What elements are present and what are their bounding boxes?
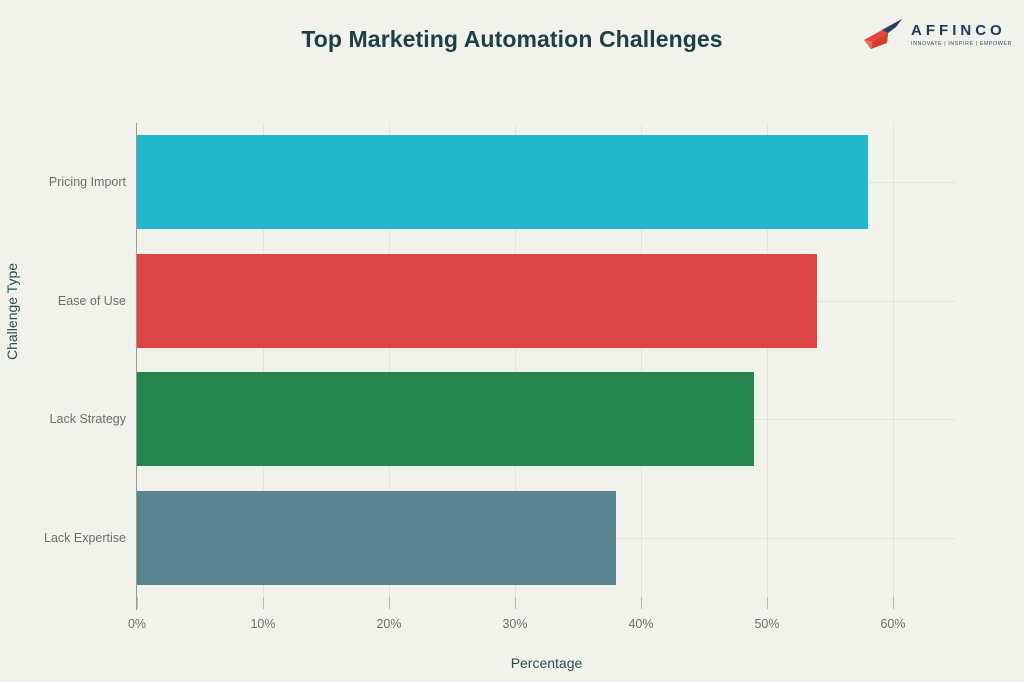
x-axis-tick-mark	[767, 597, 768, 609]
x-axis-tick-label: 60%	[880, 617, 905, 631]
y-axis-tick-labels: Pricing ImportEase of UseLack StrategyLa…	[0, 0, 137, 682]
plot-area	[137, 123, 956, 597]
x-axis-tick-label: 50%	[754, 617, 779, 631]
x-axis-tick-mark	[893, 597, 894, 609]
y-axis-tick-label: Pricing Import	[49, 175, 126, 189]
x-axis-tick-label: 10%	[250, 617, 275, 631]
x-axis-title: Percentage	[137, 655, 956, 671]
x-axis-tick-label: 40%	[628, 617, 653, 631]
x-axis-tick-mark	[263, 597, 264, 609]
bar-lack-strategy[interactable]	[137, 372, 754, 466]
bar-ease-of-use[interactable]	[137, 254, 817, 348]
y-axis-tick-label: Lack Expertise	[44, 531, 126, 545]
bar-chart: Pricing ImportEase of UseLack StrategyLa…	[0, 0, 1024, 682]
gridline-vertical	[893, 123, 894, 597]
x-axis-tick-label: 30%	[502, 617, 527, 631]
y-axis-tick-label: Lack Strategy	[50, 412, 126, 426]
x-axis-tick-label: 20%	[376, 617, 401, 631]
y-axis-tick-label: Ease of Use	[58, 294, 126, 308]
y-axis-title: Challenge Type	[4, 263, 20, 360]
x-axis-tick-mark	[515, 597, 516, 609]
x-axis-tick-label: 0%	[128, 617, 146, 631]
bar-lack-expertise[interactable]	[137, 491, 616, 585]
x-axis-tick-mark	[641, 597, 642, 609]
x-axis-tick-mark	[389, 597, 390, 609]
x-axis-tick-mark	[137, 597, 138, 609]
bar-pricing-import[interactable]	[137, 135, 868, 229]
